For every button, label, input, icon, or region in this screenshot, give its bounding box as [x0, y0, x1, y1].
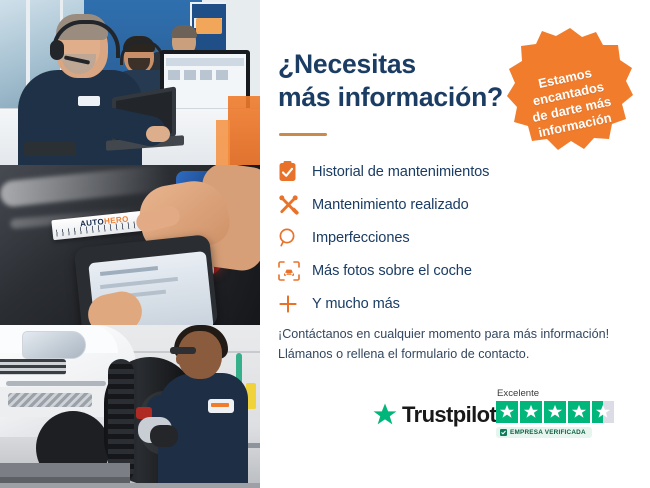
- trustpilot-widget[interactable]: Trustpilot Excelente: [372, 388, 622, 450]
- promo-card: AUTOHERO: [0, 0, 650, 488]
- safety-glasses: [170, 347, 196, 354]
- title-divider: [279, 133, 327, 136]
- photo-collage: AUTOHERO: [0, 0, 260, 488]
- feature-label: Imperfecciones: [312, 230, 410, 246]
- workshop-floor: [0, 483, 260, 488]
- call-center-agent-photo: [0, 0, 260, 165]
- star-filled-icon: [520, 401, 542, 423]
- feature-item-mantenimiento: Mantenimiento realizado: [278, 188, 578, 221]
- star-rating: [496, 401, 622, 423]
- desk-tablet: [24, 142, 76, 156]
- agent-name-badge: [78, 96, 100, 106]
- car-lift-arm: [0, 463, 130, 477]
- feature-item-fotos: Más fotos sobre el coche: [278, 254, 578, 287]
- content-panel: ¿Necesitas más información? Estamos enca…: [260, 0, 650, 488]
- car-headlight: [22, 331, 86, 359]
- star-filled-icon: [568, 401, 590, 423]
- plus-icon: [278, 294, 312, 314]
- feature-item-mas: Y mucho más: [278, 287, 578, 320]
- screen-toolbar: [166, 58, 244, 66]
- verified-check-icon: [500, 429, 507, 436]
- promo-badge: Estamos encantados de darte más informac…: [507, 26, 633, 152]
- star-filled-icon: [544, 401, 566, 423]
- contact-paragraph-line-1: ¡Contáctanos en cualquier momento para m…: [278, 324, 638, 344]
- contact-paragraph: ¡Contáctanos en cualquier momento para m…: [278, 324, 638, 365]
- rating-label: Excelente: [497, 388, 622, 399]
- verified-company-badge: EMPRESA VERIFICADA: [496, 427, 592, 438]
- work-glove-dark: [150, 425, 178, 447]
- crossed-tools-icon: [278, 194, 312, 215]
- feature-item-imperfecciones: Imperfecciones: [278, 221, 578, 254]
- screen-thumb: [216, 70, 228, 80]
- trustpilot-star-icon: [372, 402, 398, 428]
- page-title-line-2: más información?: [278, 81, 528, 114]
- bumper-air-intake: [8, 393, 92, 407]
- mechanic-logo-badge: [208, 399, 234, 413]
- orange-panel: [228, 96, 260, 165]
- headset-earcup-icon: [50, 40, 64, 60]
- feature-list: Historial de mantenimientos Mantenimient…: [278, 155, 578, 320]
- verified-company-label: EMPRESA VERIFICADA: [510, 429, 586, 436]
- poster-image: [196, 18, 222, 34]
- star-half-icon: [592, 401, 614, 423]
- car-photo-icon: [278, 261, 312, 281]
- agent-hand: [146, 126, 170, 142]
- clipboard-check-icon: [278, 161, 312, 182]
- car-inspection-photo: AUTOHERO: [0, 165, 260, 325]
- mechanic-wheel-photo: [0, 325, 260, 488]
- background-person-hair: [171, 25, 197, 38]
- headset-icon: [494, 26, 520, 48]
- star-filled-icon: [496, 401, 518, 423]
- feature-item-historial: Historial de mantenimientos: [278, 155, 578, 188]
- feature-label: Mantenimiento realizado: [312, 197, 469, 213]
- mechanic-ear: [176, 353, 186, 365]
- trustpilot-wordmark: Trustpilot: [402, 402, 496, 428]
- feature-label: Historial de mantenimientos: [312, 164, 489, 180]
- car-grille: [0, 359, 66, 375]
- trustpilot-rating: Excelente: [496, 388, 622, 441]
- magnifier-icon: [278, 228, 312, 248]
- screen-thumb: [184, 70, 196, 80]
- contact-paragraph-line-2: Llámanos o rellena el formulario de cont…: [278, 344, 638, 364]
- screen-thumb: [200, 70, 212, 80]
- page-title: ¿Necesitas más información?: [278, 48, 528, 114]
- feature-label: Y mucho más: [312, 296, 400, 312]
- feature-label: Más fotos sobre el coche: [312, 263, 472, 279]
- page-title-line-1: ¿Necesitas: [278, 48, 528, 81]
- screen-thumb: [168, 70, 180, 80]
- trustpilot-logo[interactable]: Trustpilot: [372, 402, 496, 428]
- bumper-highlight: [6, 381, 106, 386]
- orange-panel-2: [216, 120, 230, 165]
